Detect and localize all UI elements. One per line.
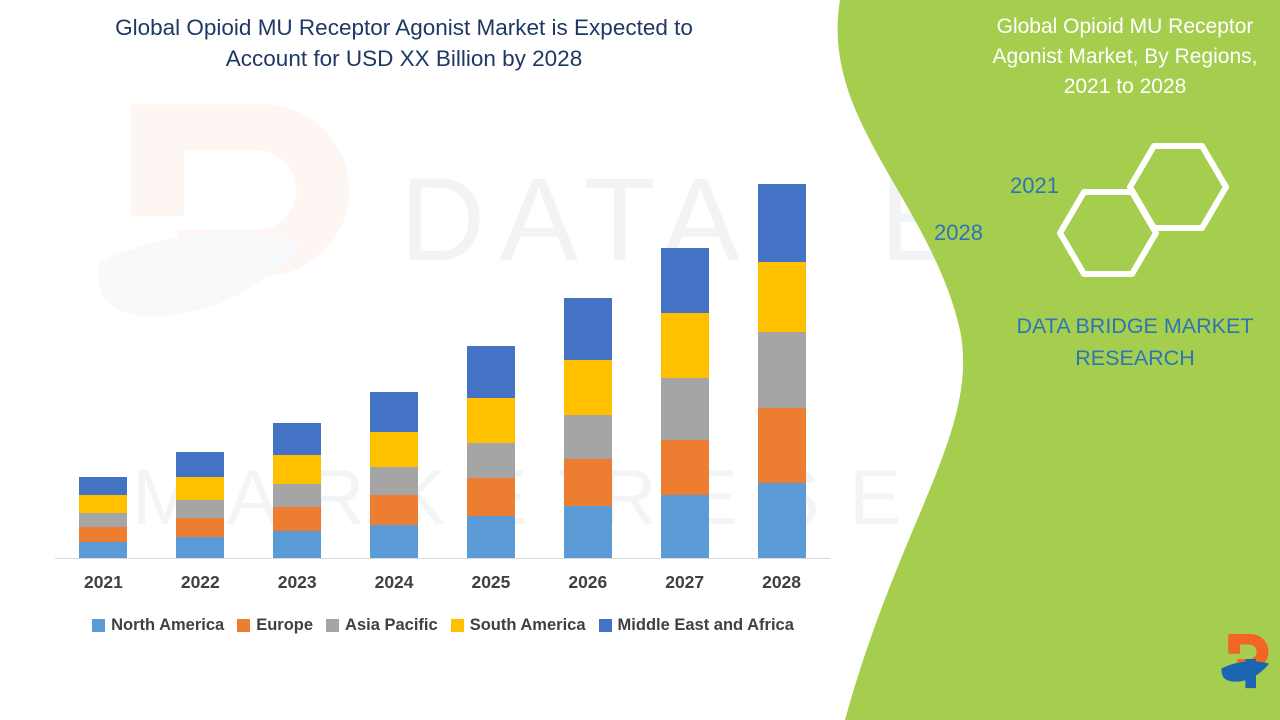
x-axis-labels: 20212022202320242025202620272028 (55, 572, 830, 593)
bar-segment (564, 298, 612, 360)
x-axis-label-2022: 2022 (152, 572, 248, 593)
stacked-bar (758, 184, 806, 558)
hexagon-outlines-icon (958, 140, 1278, 290)
stacked-bar (370, 392, 418, 558)
panel-brand-text: DATA BRIDGE MARKET RESEARCH (990, 310, 1280, 375)
bar-segment (661, 495, 709, 558)
stacked-bar (273, 423, 321, 558)
legend-swatch-icon (451, 619, 464, 632)
bar-segment (273, 484, 321, 507)
bar-segment (176, 452, 224, 477)
bar-segment (467, 398, 515, 443)
data-bridge-mark-icon (1218, 630, 1280, 696)
bar-column-2027 (637, 160, 733, 558)
bar-segment (758, 483, 806, 558)
bar-segment (564, 360, 612, 415)
bar-segment (758, 184, 806, 262)
bar-segment (176, 500, 224, 518)
bar-segment (370, 392, 418, 432)
panel-brand-line2: RESEARCH (990, 342, 1280, 374)
bar-segment (79, 542, 127, 558)
bar-segment (370, 432, 418, 467)
legend-label: Asia Pacific (345, 616, 438, 635)
bar-column-2024 (346, 160, 442, 558)
x-axis-label-2024: 2024 (346, 572, 442, 593)
bar-segment (758, 262, 806, 332)
bar-segment (467, 443, 515, 478)
legend-label: Middle East and Africa (618, 616, 794, 635)
legend-swatch-icon (237, 619, 250, 632)
bar-column-2022 (152, 160, 248, 558)
x-axis-label-2026: 2026 (540, 572, 636, 593)
legend-swatch-icon (92, 619, 105, 632)
bar-segment (661, 313, 709, 378)
panel-brand-line1: DATA BRIDGE MARKET (990, 310, 1280, 342)
legend-item[interactable]: Asia Pacific (326, 616, 438, 635)
hex-label-end-year: 2028 (934, 220, 983, 246)
bar-segment (176, 477, 224, 500)
bar-segment (79, 477, 127, 495)
chart-title: Global Opioid MU Receptor Agonist Market… (74, 12, 734, 74)
bar-segment (370, 467, 418, 495)
stacked-bar (176, 452, 224, 558)
data-bridge-logo: DATA BRIDGE M A R K E T R E S E A R C H (1218, 628, 1280, 702)
bar-column-2025 (443, 160, 539, 558)
bar-segment (273, 507, 321, 531)
legend-item[interactable]: South America (451, 616, 586, 635)
bar-segment (661, 440, 709, 495)
legend-label: Europe (256, 616, 313, 635)
legend-swatch-icon (599, 619, 612, 632)
legend-swatch-icon (326, 619, 339, 632)
stacked-bar (79, 477, 127, 558)
x-axis-label-2025: 2025 (443, 572, 539, 593)
x-axis-baseline (55, 558, 830, 559)
bar-segment (79, 527, 127, 542)
bar-segment (564, 506, 612, 558)
panel-title: Global Opioid MU Receptor Agonist Market… (980, 12, 1270, 101)
stacked-bar (661, 248, 709, 558)
stacked-bar-group (55, 160, 830, 558)
bar-segment (758, 332, 806, 408)
bar-segment (661, 248, 709, 313)
legend-item[interactable]: Europe (237, 616, 313, 635)
bar-segment (79, 495, 127, 513)
bar-segment (176, 537, 224, 558)
bar-segment (370, 525, 418, 558)
bar-segment (467, 346, 515, 398)
stacked-bar (564, 298, 612, 558)
bar-column-2023 (249, 160, 345, 558)
panel-content: Global Opioid MU Receptor Agonist Market… (810, 0, 1280, 720)
bar-segment (758, 408, 806, 483)
x-axis-label-2021: 2021 (55, 572, 151, 593)
hexagon-group (958, 140, 1278, 290)
bar-segment (467, 516, 515, 558)
slide-canvas: DATA BRIDGE MARKET RESEARCH Global Opioi… (0, 0, 1280, 720)
bar-segment (370, 495, 418, 525)
chart-legend: North AmericaEuropeAsia PacificSouth Ame… (48, 616, 838, 635)
bar-segment (564, 459, 612, 506)
legend-item[interactable]: Middle East and Africa (599, 616, 794, 635)
bar-segment (273, 423, 321, 455)
right-green-panel: Global Opioid MU Receptor Agonist Market… (810, 0, 1280, 720)
bar-segment (176, 518, 224, 537)
bar-segment (661, 378, 709, 440)
bar-column-2026 (540, 160, 636, 558)
bar-segment (273, 455, 321, 484)
legend-item[interactable]: North America (92, 616, 224, 635)
x-axis-label-2027: 2027 (637, 572, 733, 593)
legend-label: South America (470, 616, 586, 635)
x-axis-label-2023: 2023 (249, 572, 345, 593)
legend-label: North America (111, 616, 224, 635)
bar-segment (273, 531, 321, 558)
bar-segment (564, 415, 612, 459)
hex-label-start-year: 2021 (1010, 173, 1059, 199)
bar-segment (467, 478, 515, 516)
stacked-bar (467, 346, 515, 558)
bar-segment (79, 513, 127, 527)
bar-column-2021 (55, 160, 151, 558)
